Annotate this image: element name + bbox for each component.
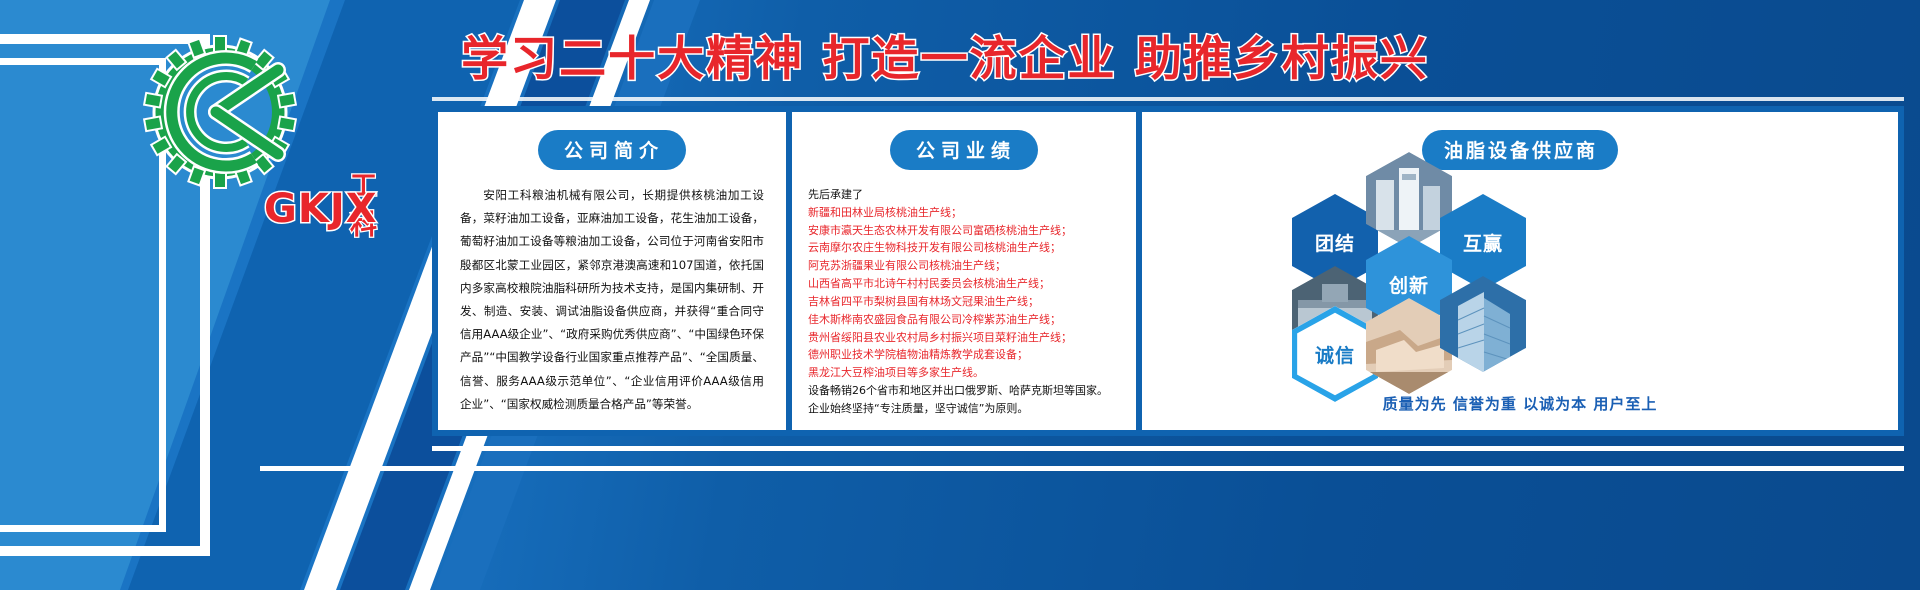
company-performance-body: 先后承建了 新疆和田林业局核桃油生产线； 安康市瀛天生态农林开发有限公司富硒核桃…	[792, 170, 1136, 418]
gear-logo-icon	[122, 28, 318, 204]
performance-footer-line: 设备畅销26个省市和地区并出口俄罗斯、哈萨克斯坦等国家。	[808, 382, 1124, 400]
list-item: 云南摩尔农庄生物科技开发有限公司核桃油生产线；	[808, 239, 1124, 257]
panel-title-company-profile: 公司简介	[538, 130, 686, 170]
panel-company-performance: 公司业绩 先后承建了 新疆和田林业局核桃油生产线； 安康市瀛天生态农林开发有限公…	[792, 112, 1136, 430]
list-item: 阿克苏浙疆果业有限公司核桃油生产线；	[808, 257, 1124, 275]
panel-company-profile: 公司简介 安阳工科粮油机械有限公司，长期提供核桃油加工设备，菜籽油加工设备，亚麻…	[438, 112, 786, 430]
list-item: 佳木斯桦南农盛园食品有限公司冷榨紫苏油生产线；	[808, 311, 1124, 329]
list-item: 吉林省四平市梨树县国有林场文冠果油生产线；	[808, 293, 1124, 311]
panel-title-supplier: 油脂设备供应商	[1422, 130, 1618, 170]
company-profile-body: 安阳工科粮油机械有限公司，长期提供核桃油加工设备，菜籽油加工设备，亚麻油加工设备…	[438, 170, 786, 416]
hex-label: 互赢	[1463, 229, 1503, 256]
logo-english-text: GKJX	[264, 186, 378, 232]
hex-label: 创新	[1389, 271, 1429, 298]
performance-lead: 先后承建了	[808, 186, 1124, 204]
building-photo-icon	[1440, 276, 1526, 372]
company-logo: 工科 GKJX	[122, 28, 318, 204]
hex-label: 诚信	[1315, 341, 1355, 368]
supplier-slogan: 质量为先 信誉为重 以诚为本 用户至上	[1142, 393, 1898, 414]
list-item: 安康市瀛天生态农林开发有限公司富硒核桃油生产线；	[808, 222, 1124, 240]
list-item: 黑龙江大豆榨油项目等多家生产线。	[808, 364, 1124, 382]
panel-supplier: 油脂设备供应商 团结	[1142, 112, 1898, 430]
hex-label: 团结	[1315, 229, 1355, 256]
hex-mutual-win: 互赢	[1440, 194, 1526, 290]
poster-header: 学习二十大精神 打造一流企业 助推乡村振兴	[430, 18, 1460, 90]
list-item: 新疆和田林业局核桃油生产线；	[808, 204, 1124, 222]
performance-footer-line: 企业始终坚持“专注质量，坚守诚信”为原则。	[808, 400, 1124, 418]
building-photo	[1440, 276, 1526, 372]
poster-board: 工科 GKJX 学习二十大精神 打造一流企业 助推乡村振兴 公司简介 安阳工科粮…	[0, 0, 1920, 590]
header-divider	[432, 97, 1904, 101]
bottom-divider-2	[260, 466, 1904, 471]
list-item: 贵州省绥阳县农业农村局乡村振兴项目菜籽油生产线；	[808, 329, 1124, 347]
company-profile-text: 安阳工科粮油机械有限公司，长期提供核桃油加工设备，菜籽油加工设备，亚麻油加工设备…	[460, 184, 764, 416]
panel-title-company-performance: 公司业绩	[890, 130, 1038, 170]
hex-photo-building	[1440, 276, 1526, 372]
page-title: 学习二十大精神 打造一流企业 助推乡村振兴	[461, 20, 1429, 89]
bottom-divider-1	[432, 446, 1904, 451]
list-item: 山西省高平市北诗午村村民委员会核桃油生产线；	[808, 275, 1124, 293]
panels-container: 公司简介 安阳工科粮油机械有限公司，长期提供核桃油加工设备，菜籽油加工设备，亚麻…	[432, 106, 1904, 436]
hexagon-cluster: 团结	[1142, 176, 1898, 391]
list-item: 德州职业技术学院植物油精炼教学成套设备；	[808, 346, 1124, 364]
